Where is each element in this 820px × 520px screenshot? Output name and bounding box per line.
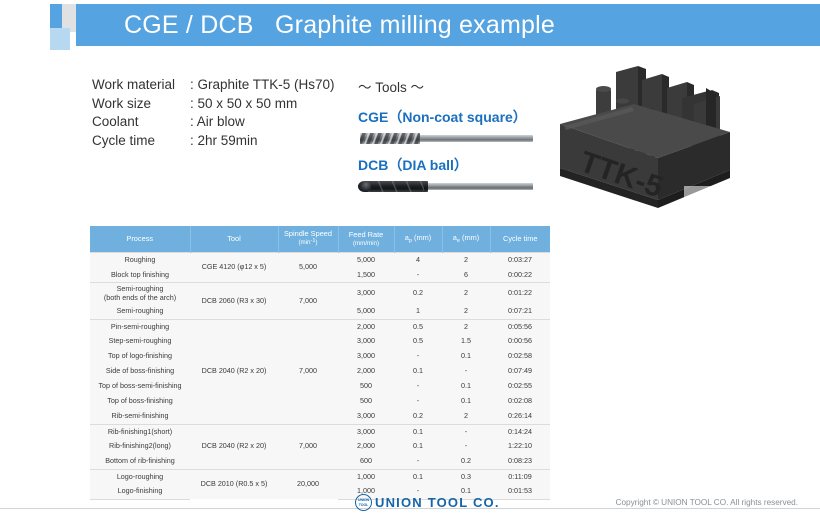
spec-value: : Air blow [190, 113, 245, 132]
column-header-tool: Tool [190, 226, 278, 253]
cell-feed-rate: 5,000 [338, 304, 394, 319]
cell-feed-rate: 500 [338, 394, 394, 409]
cell-ap: 0.1 [394, 469, 442, 484]
list-item: Work material : Graphite TTK-5 (Hs70) [92, 76, 335, 95]
work-conditions-list: Work material : Graphite TTK-5 (Hs70) Wo… [92, 76, 335, 150]
cell-spindle-speed: 20,000 [278, 469, 338, 499]
table-header-row: Process Tool Spindle Speed (min-1) Feed … [90, 226, 550, 253]
cell-ae: 2 [442, 319, 490, 334]
cell-feed-rate: 3,000 [338, 349, 394, 364]
cell-ap: 4 [394, 253, 442, 268]
column-header-process: Process [90, 226, 190, 253]
cell-process: Rib-finishing2(long) [90, 439, 190, 454]
ball-mill-shank [426, 183, 533, 190]
spec-value: : 50 x 50 x 50 mm [190, 95, 297, 114]
cell-cycle-time: 0:01:22 [490, 283, 550, 305]
cell-ae: - [442, 364, 490, 379]
column-header-ap: ap (mm) [394, 226, 442, 253]
cell-ae: 2 [442, 283, 490, 305]
cell-cycle-time: 0:03:27 [490, 253, 550, 268]
cell-feed-rate: 2,000 [338, 364, 394, 379]
tool-entry-dcb: DCB（DIA ball） [358, 155, 533, 194]
cell-feed-rate: 500 [338, 379, 394, 394]
cell-spindle-speed: 7,000 [278, 319, 338, 424]
cell-ae: 0.1 [442, 349, 490, 364]
unit-spindle-speed: (min-1) [281, 238, 336, 248]
ball-mill-tip [358, 181, 371, 192]
cell-ap: 0.2 [394, 283, 442, 305]
process-table: Process Tool Spindle Speed (min-1) Feed … [90, 226, 550, 500]
list-item: Work size : 50 x 50 x 50 mm [92, 95, 335, 114]
cell-cycle-time: 0:02:58 [490, 349, 550, 364]
cell-ap: - [394, 349, 442, 364]
cell-ae: 0.1 [442, 394, 490, 409]
cell-cycle-time: 0:08:23 [490, 454, 550, 469]
cell-process: Logo-roughing [90, 469, 190, 484]
cell-process: Rib-semi-finishing [90, 409, 190, 424]
union-tool-logo-icon: UNION TOOL [355, 494, 372, 511]
cell-cycle-time: 0:11:09 [490, 469, 550, 484]
table-row: Logo-roughingDCB 2010 (R0.5 x 5)20,0001,… [90, 469, 550, 484]
column-header-cycle-time: Cycle time [490, 226, 550, 253]
cell-feed-rate: 2,000 [338, 439, 394, 454]
cell-cycle-time: 0:02:08 [490, 394, 550, 409]
ball-mill-flutes [368, 181, 424, 192]
page-title: CGE / DCB Graphite milling example [124, 11, 555, 40]
cell-ae: - [442, 439, 490, 454]
list-item: Cycle time : 2hr 59min [92, 132, 335, 151]
logo-mark-line2: TOOL [359, 503, 369, 508]
tool-entry-cge: CGE（Non-coat square） [358, 107, 533, 146]
cell-ap: - [394, 394, 442, 409]
page-title-banner: CGE / DCB Graphite milling example [76, 4, 820, 46]
cell-feed-rate: 3,000 [338, 409, 394, 424]
company-name: UNION TOOL CO. [375, 495, 500, 510]
cell-feed-rate: 3,000 [338, 283, 394, 305]
cell-cycle-time: 0:14:24 [490, 424, 550, 439]
cell-cycle-time: 0:07:21 [490, 304, 550, 319]
table-row: RoughingCGE 4120 (φ12 x 5)5,0005,000420:… [90, 253, 550, 268]
ball-nose-end-mill-icon [358, 179, 533, 194]
cell-ap: 0.1 [394, 364, 442, 379]
cell-spindle-speed: 7,000 [278, 283, 338, 320]
spec-value: : Graphite TTK-5 (Hs70) [190, 76, 335, 95]
column-header-feed-rate: Feed Rate (mm/min) [338, 226, 394, 253]
cell-cycle-time: 0:00:56 [490, 334, 550, 349]
banner-decoration-light-block [50, 28, 70, 50]
cell-ae: 2 [442, 304, 490, 319]
column-header-ae: ae (mm) [442, 226, 490, 253]
cell-ae: - [442, 424, 490, 439]
cell-process: Top of boss-finishing [90, 394, 190, 409]
cell-process: Block top finishing [90, 268, 190, 283]
end-mill-flutes [360, 133, 420, 144]
spec-label: Work size [92, 95, 190, 114]
cell-tool: DCB 2040 (R2 x 20) [190, 424, 278, 469]
cell-process: Bottom of rib-finishing [90, 454, 190, 469]
table-row: Pin-semi-roughingDCB 2040 (R2 x 20)7,000… [90, 319, 550, 334]
cell-cycle-time: 0:07:49 [490, 364, 550, 379]
cell-ae: 0.1 [442, 379, 490, 394]
list-item: Coolant : Air blow [92, 113, 335, 132]
cell-ae: 0.3 [442, 469, 490, 484]
cell-ap: 0.2 [394, 409, 442, 424]
cell-ae: 2 [442, 409, 490, 424]
cell-tool: CGE 4120 (φ12 x 5) [190, 253, 278, 283]
cell-spindle-speed: 7,000 [278, 424, 338, 469]
cell-cycle-time: 0:26:14 [490, 409, 550, 424]
cell-spindle-speed: 5,000 [278, 253, 338, 283]
cell-ap: 0.5 [394, 319, 442, 334]
company-logo: UNION TOOL UNION TOOL CO. [355, 494, 500, 511]
spec-value: : 2hr 59min [190, 132, 258, 151]
unit-feed-rate: (mm/min) [341, 239, 392, 248]
cell-process: Roughing [90, 253, 190, 268]
cell-ae: 2 [442, 253, 490, 268]
cell-feed-rate: 2,000 [338, 319, 394, 334]
cell-feed-rate: 5,000 [338, 253, 394, 268]
cell-ap: 0.1 [394, 439, 442, 454]
cell-process: Top of boss-semi-finishing [90, 379, 190, 394]
banner-decoration-mid-block [50, 4, 62, 30]
cell-process: Top of logo-finishing [90, 349, 190, 364]
column-header-spindle-speed: Spindle Speed (min-1) [278, 226, 338, 253]
process-table-body: RoughingCGE 4120 (φ12 x 5)5,0005,000420:… [90, 253, 550, 500]
cell-ap: 0.5 [394, 334, 442, 349]
spec-label: Work material [92, 76, 190, 95]
cell-process: Side of boss-finishing [90, 364, 190, 379]
cell-process: Semi-roughing [90, 304, 190, 319]
cell-feed-rate: 3,000 [338, 424, 394, 439]
cell-tool: DCB 2010 (R0.5 x 5) [190, 469, 278, 499]
cell-ap: - [394, 268, 442, 283]
cell-cycle-time: 0:02:55 [490, 379, 550, 394]
cell-process: Rib-finishing1(short) [90, 424, 190, 439]
copyright-notice: Copyright © UNION TOOL CO. All rights re… [616, 498, 798, 507]
table-row: Semi-roughing(both ends of the arch)DCB … [90, 283, 550, 305]
tool-name-cge: CGE（Non-coat square） [358, 107, 533, 127]
cell-cycle-time: 0:00:22 [490, 268, 550, 283]
cell-ap: 1 [394, 304, 442, 319]
cell-feed-rate: 1,000 [338, 469, 394, 484]
cell-ap: - [394, 379, 442, 394]
tools-section: 〜 Tools 〜 CGE（Non-coat square） DCB（DIA b… [358, 76, 533, 203]
cell-ae: 6 [442, 268, 490, 283]
cell-tool: DCB 2060 (R3 x 30) [190, 283, 278, 320]
process-table-wrapper: Process Tool Spindle Speed (min-1) Feed … [90, 226, 550, 500]
cell-ap: - [394, 454, 442, 469]
cell-ae: 0.2 [442, 454, 490, 469]
cell-cycle-time: 1:22:10 [490, 439, 550, 454]
graphite-workpiece-photo: TTK-5 [538, 58, 814, 216]
spec-label: Coolant [92, 113, 190, 132]
end-mill-shank [418, 135, 533, 142]
cell-process: Step-semi-roughing [90, 334, 190, 349]
cell-feed-rate: 600 [338, 454, 394, 469]
cell-ap: 0.1 [394, 424, 442, 439]
cell-tool: DCB 2040 (R2 x 20) [190, 319, 278, 424]
table-row: Rib-finishing1(short)DCB 2040 (R2 x 20)7… [90, 424, 550, 439]
spec-label: Cycle time [92, 132, 190, 151]
cell-process: Semi-roughing(both ends of the arch) [90, 283, 190, 305]
tool-name-dcb: DCB（DIA ball） [358, 155, 533, 175]
square-end-mill-icon [358, 131, 533, 146]
cell-process: Logo-finishing [90, 484, 190, 499]
cell-feed-rate: 1,500 [338, 268, 394, 283]
cell-feed-rate: 3,000 [338, 334, 394, 349]
cell-process: Pin-semi-roughing [90, 319, 190, 334]
tools-section-heading: 〜 Tools 〜 [358, 76, 533, 96]
cell-cycle-time: 0:05:56 [490, 319, 550, 334]
cell-ae: 1.5 [442, 334, 490, 349]
